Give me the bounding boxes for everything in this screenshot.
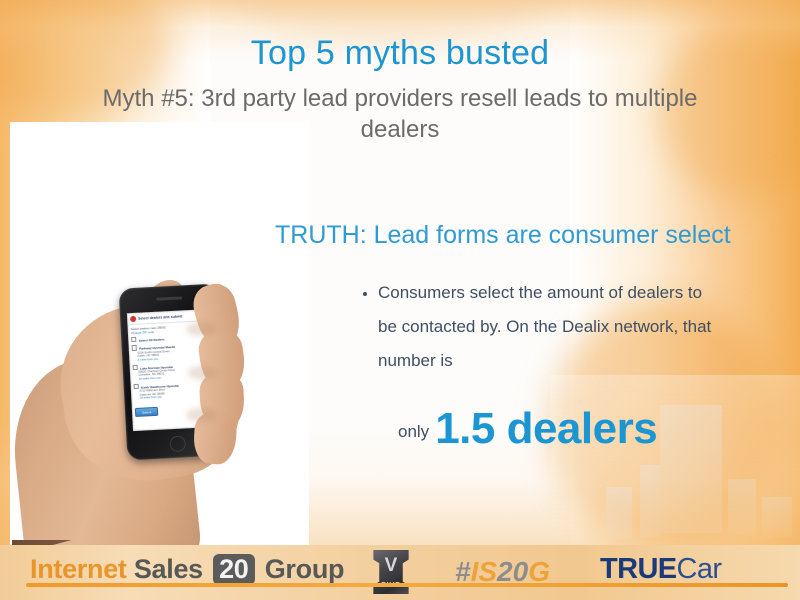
screen-header-title: Select dealers and submit <box>138 314 182 320</box>
five-shield-icon: V FIVE <box>370 550 412 594</box>
dealer-distance: 20 miles from you <box>139 376 161 381</box>
knuckle-shading <box>188 366 218 380</box>
bullet-item: Consumers select the amount of dealers t… <box>378 276 720 378</box>
slide-title: Top 5 myths busted <box>0 34 800 73</box>
checkbox-icon[interactable] <box>131 337 137 343</box>
truecar-logo: TRUECar <box>600 553 721 586</box>
submit-button[interactable]: Submit <box>135 407 159 417</box>
presentation-slide: Top 5 myths busted Myth #5: 3rd party le… <box>0 0 800 600</box>
phone-speaker <box>156 296 182 300</box>
knuckle-shading <box>186 408 216 422</box>
bullet-list: Consumers select the amount of dealers t… <box>360 276 720 378</box>
hand-phone-photo: Select dealers and submit Select dealers… <box>10 122 309 548</box>
cityscape-haze <box>550 375 800 545</box>
home-button-icon[interactable] <box>169 435 186 452</box>
logo-word-internet: Internet <box>30 554 127 584</box>
alert-dot-icon <box>130 316 136 322</box>
punchline-value: 1.5 dealers <box>435 404 657 453</box>
logo-word-group: Group <box>265 554 345 584</box>
cityscape-background-image <box>550 375 800 545</box>
logo-word-sales: Sales <box>134 554 203 584</box>
footer-rule <box>26 583 788 587</box>
dealer-distance: 6 miles from you <box>138 357 159 362</box>
internet-sales-20-group-logo: Internet Sales 20 Group <box>30 554 344 585</box>
knuckle-shading <box>186 322 216 336</box>
truecar-true: TRUE <box>600 553 677 585</box>
truth-heading: TRUTH: Lead forms are consumer select <box>275 221 796 250</box>
shield-v-mark: V <box>370 556 412 575</box>
logo-badge-20: 20 <box>213 554 254 585</box>
truecar-car: Car <box>677 553 722 585</box>
punchline-prefix: only <box>398 422 429 441</box>
footer-bar: Internet Sales 20 Group V FIVE #IS20G TR… <box>0 545 800 600</box>
punchline: only1.5 dealers <box>398 404 657 454</box>
